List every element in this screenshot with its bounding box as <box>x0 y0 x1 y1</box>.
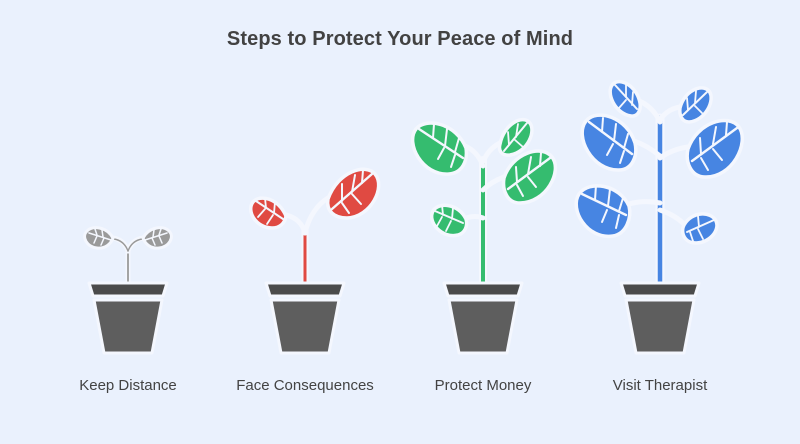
step-label-protect-money: Protect Money <box>394 374 572 397</box>
mature-plant-leaf-right-large <box>687 120 742 177</box>
sprout-leaf-right-large <box>328 169 379 218</box>
plant-illustration-seedling <box>39 70 217 360</box>
young-plant-leaf-lower-left-small <box>432 205 467 236</box>
mature-plant-leaf-top-left-small <box>610 82 640 116</box>
infographic-canvas: Steps to Protect Your Peace of Mind <box>0 0 800 444</box>
step-item-keep-distance[interactable]: Keep Distance <box>39 70 217 430</box>
seedling-stem-group <box>113 238 143 283</box>
flower-pot <box>621 283 699 353</box>
seedling-leaf-right <box>143 228 171 248</box>
step-label-keep-distance: Keep Distance <box>39 374 217 397</box>
sprout-stem-group <box>286 198 328 283</box>
step-item-visit-therapist[interactable]: Visit Therapist <box>571 70 749 430</box>
plant-illustration-sprout <box>216 70 394 360</box>
mature-plant-leaf-top-right-small <box>680 88 711 122</box>
young-plant-leaf-top-small <box>499 120 531 155</box>
flower-pot <box>266 283 344 353</box>
mature-plant-stem-group <box>629 101 688 283</box>
seedling-leaf-left <box>85 228 113 248</box>
step-label-visit-therapist: Visit Therapist <box>571 374 749 397</box>
flower-pot <box>89 283 167 353</box>
step-item-protect-money[interactable]: Protect Money <box>394 70 572 430</box>
plant-illustration-young-plant <box>394 70 572 360</box>
flower-pot <box>444 283 522 353</box>
page-title: Steps to Protect Your Peace of Mind <box>0 28 800 51</box>
mature-plant-leaf-lower-right-small <box>683 214 717 243</box>
mature-plant-leaf-upper-left-large <box>582 115 636 170</box>
sprout-leaf-left-small <box>251 198 286 228</box>
young-plant-leaf-right-large <box>504 151 556 203</box>
plant-illustration-mature-plant <box>571 70 749 360</box>
young-plant-leaf-upper-left <box>413 123 467 174</box>
step-item-face-consequences[interactable]: Face Consequences <box>216 70 394 430</box>
mature-plant-leaf-lower-left-large <box>576 185 630 236</box>
step-label-face-consequences: Face Consequences <box>216 374 394 397</box>
young-plant-stem-group <box>465 143 504 283</box>
